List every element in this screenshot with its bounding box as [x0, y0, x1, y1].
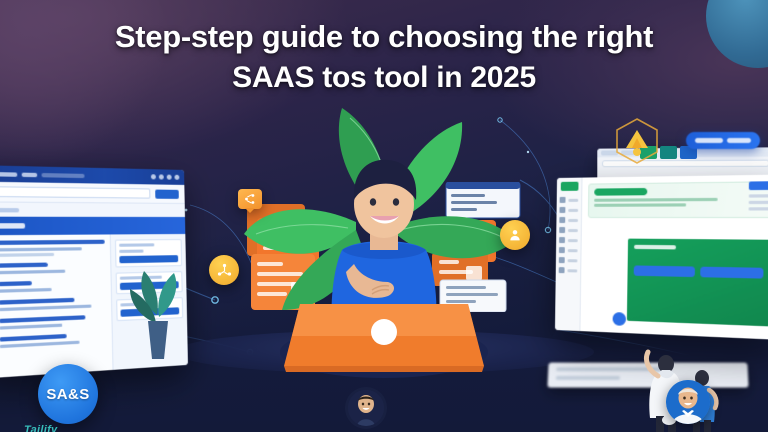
right-dashboard-mockup[interactable] — [555, 175, 768, 340]
sidebar-item[interactable] — [556, 215, 581, 225]
sidebar-item[interactable] — [556, 265, 581, 276]
title-line-2: SAAS tos tool in 2025 — [36, 58, 732, 99]
mini-card-teal[interactable] — [660, 146, 677, 159]
green-feature-panel[interactable] — [627, 239, 768, 327]
list-item[interactable] — [0, 261, 105, 275]
right-dashboard-aside — [748, 181, 768, 214]
primary-action-button[interactable] — [155, 189, 179, 198]
left-nav-item-3[interactable] — [42, 172, 85, 177]
list-item[interactable] — [0, 297, 106, 313]
avatar-center-photo — [348, 390, 384, 426]
list-item[interactable] — [0, 332, 107, 350]
plant-decoration — [126, 255, 188, 365]
inbox-icon — [559, 207, 565, 213]
list-item[interactable] — [0, 279, 106, 294]
title-line-1: Step-step guide to choosing the right — [36, 16, 732, 58]
search-input[interactable] — [0, 186, 150, 199]
calendar-icon — [559, 227, 565, 233]
person-glyph-icon — [507, 227, 523, 243]
green-panel-button-1[interactable] — [634, 265, 695, 277]
left-section-title — [0, 223, 25, 229]
cta-pill-button[interactable] — [686, 132, 760, 149]
breadcrumb — [0, 202, 185, 217]
left-dashboard-search-row — [0, 181, 185, 203]
home-icon — [560, 197, 566, 203]
avatar-center[interactable] — [348, 390, 384, 426]
avatar-right-photo — [666, 380, 710, 424]
list-item[interactable] — [0, 314, 106, 331]
banner-title: Step-step guide to choosing the right SA… — [0, 16, 768, 99]
tasks-icon — [559, 247, 565, 253]
left-dashboard-list — [0, 234, 113, 379]
green-panel-actions — [634, 265, 764, 278]
network-badge-icon[interactable] — [209, 255, 239, 285]
contacts-icon — [559, 217, 565, 223]
breadcrumb-text — [0, 207, 19, 212]
floating-action-button[interactable] — [613, 312, 626, 326]
brand-badge[interactable]: SA&S — [38, 364, 98, 424]
help-icon[interactable] — [159, 174, 164, 179]
sidebar-item[interactable] — [556, 245, 581, 255]
person-badge-icon[interactable] — [500, 220, 530, 250]
cta-pill-label-1 — [695, 138, 723, 143]
hero-badge — [594, 188, 647, 196]
share-glyph-icon — [243, 192, 257, 206]
cta-pill-label-2 — [727, 138, 751, 143]
banner-canvas: Step-step guide to choosing the right SA… — [0, 0, 768, 432]
chart-icon — [559, 237, 565, 243]
aside-button[interactable] — [749, 181, 768, 190]
bell-icon[interactable] — [151, 174, 156, 179]
right-dashboard-logo — [561, 182, 579, 191]
gear-icon — [559, 267, 565, 273]
sidebar-item[interactable] — [556, 255, 581, 265]
right-dashboard-main — [580, 175, 768, 340]
right-dashboard-sidebar — [555, 178, 583, 331]
folder-icon — [559, 257, 565, 263]
sidebar-item[interactable] — [556, 235, 581, 245]
left-dashboard-topbar-actions — [151, 174, 180, 180]
brand-badge-label: SA&S — [46, 386, 89, 403]
network-glyph-icon — [216, 262, 233, 279]
settings-icon[interactable] — [167, 175, 172, 180]
green-panel-title — [634, 245, 676, 250]
share-badge-icon[interactable] — [238, 189, 262, 209]
green-panel-button-2[interactable] — [700, 267, 764, 279]
left-section-header — [0, 217, 185, 236]
seated-person-with-laptop — [238, 104, 530, 396]
left-nav-item-2[interactable] — [22, 172, 38, 177]
list-item[interactable] — [0, 240, 105, 257]
avatar-right[interactable] — [666, 380, 710, 424]
sidebar-item[interactable] — [557, 205, 582, 215]
user-avatar-icon[interactable] — [174, 175, 179, 180]
sidebar-item[interactable] — [556, 225, 581, 235]
left-nav-item-1[interactable] — [0, 172, 17, 177]
sidebar-item[interactable] — [557, 195, 582, 205]
award-hex-icon — [612, 116, 662, 166]
brand-subtext: Tailify — [24, 424, 57, 432]
hero-card[interactable] — [588, 181, 768, 218]
